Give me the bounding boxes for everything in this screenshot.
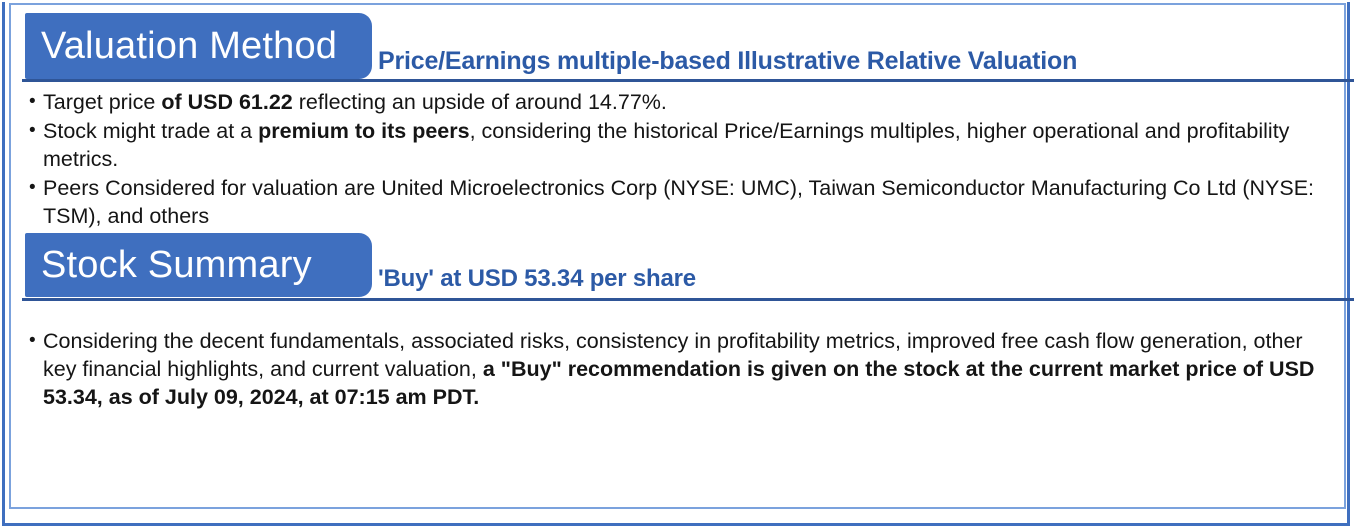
bullet-text-plain: Peers Considered for valuation are Unite…	[43, 176, 1314, 228]
bullet-text-plain: Target price	[43, 90, 161, 114]
stock-summary-body: Considering the decent fundamentals, ass…	[22, 301, 1354, 411]
valuation-method-header: Valuation Method Price/Earnings multiple…	[22, 10, 1354, 82]
valuation-method-body: Target price of USD 61.22 reflecting an …	[22, 82, 1354, 230]
bullet-text-plain: Stock might trade at a	[43, 119, 258, 143]
valuation-summary-page: Valuation Method Price/Earnings multiple…	[0, 0, 1354, 529]
header-divider	[22, 79, 1354, 82]
valuation-method-badge: Valuation Method	[25, 13, 372, 79]
bullet-text-bold: of USD 61.22	[161, 90, 292, 114]
list-item: Stock might trade at a premium to its pe…	[29, 117, 1343, 173]
bullet-text-bold: premium to its peers	[258, 119, 469, 143]
list-item: Considering the decent fundamentals, ass…	[29, 327, 1325, 411]
bullet-text-plain: reflecting an upside of around 14.77%.	[293, 90, 667, 114]
stock-summary-badge: Stock Summary	[25, 233, 372, 297]
list-item: Peers Considered for valuation are Unite…	[29, 174, 1343, 230]
inner-border: Valuation Method Price/Earnings multiple…	[9, 3, 1346, 509]
stock-summary-header: Stock Summary 'Buy' at USD 53.34 per sha…	[22, 231, 1354, 301]
stock-summary-heading: 'Buy' at USD 53.34 per share	[378, 265, 696, 293]
document-content: Valuation Method Price/Earnings multiple…	[22, 10, 1354, 512]
header-divider	[22, 298, 1354, 301]
valuation-method-heading: Price/Earnings multiple-based Illustrati…	[378, 47, 1077, 76]
list-item: Target price of USD 61.22 reflecting an …	[29, 88, 1343, 116]
